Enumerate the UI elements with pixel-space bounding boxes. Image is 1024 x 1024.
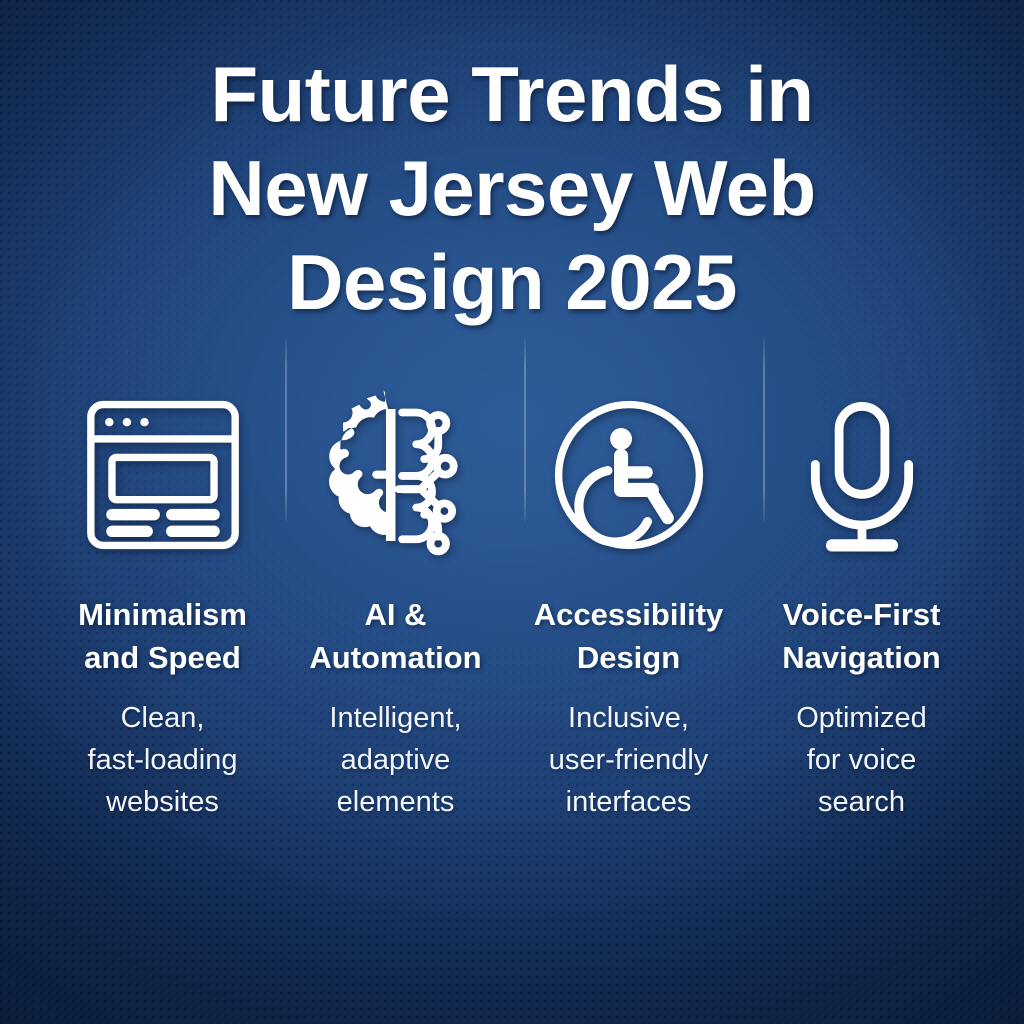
trend-column-minimalism: Minimalism and Speed Clean, fast-loading… (46, 385, 279, 823)
title-line-3: Design 2025 (60, 235, 964, 329)
trend-column-voice-first: Voice-First Navigation Optimized for voi… (745, 385, 978, 823)
microphone-icon (774, 385, 950, 565)
trend-description: Optimized for voice search (796, 697, 927, 823)
browser-wireframe-icon (75, 385, 251, 565)
trend-column-accessibility: Accessibility Design Inclusive, user-fri… (512, 385, 745, 823)
trend-columns: Minimalism and Speed Clean, fast-loading… (46, 385, 978, 823)
ai-brain-circuit-icon (308, 385, 484, 565)
trend-heading: AI & Automation (309, 593, 481, 679)
trend-heading: Minimalism and Speed (78, 593, 247, 679)
title-line-1: Future Trends in (60, 47, 964, 141)
trend-description: Intelligent, adaptive elements (329, 697, 461, 823)
infographic-poster: Future Trends in New Jersey Web Design 2… (0, 0, 1024, 1024)
wheelchair-accessibility-icon (541, 385, 717, 565)
trend-description: Clean, fast-loading websites (88, 697, 238, 823)
title-line-2: New Jersey Web (60, 141, 964, 235)
trend-description: Inclusive, user-friendly interfaces (549, 697, 709, 823)
page-title: Future Trends in New Jersey Web Design 2… (0, 47, 1024, 329)
trend-heading: Voice-First Navigation (782, 593, 940, 679)
trend-heading: Accessibility Design (534, 593, 724, 679)
trend-column-ai-automation: AI & Automation Intelligent, adaptive el… (279, 385, 512, 823)
